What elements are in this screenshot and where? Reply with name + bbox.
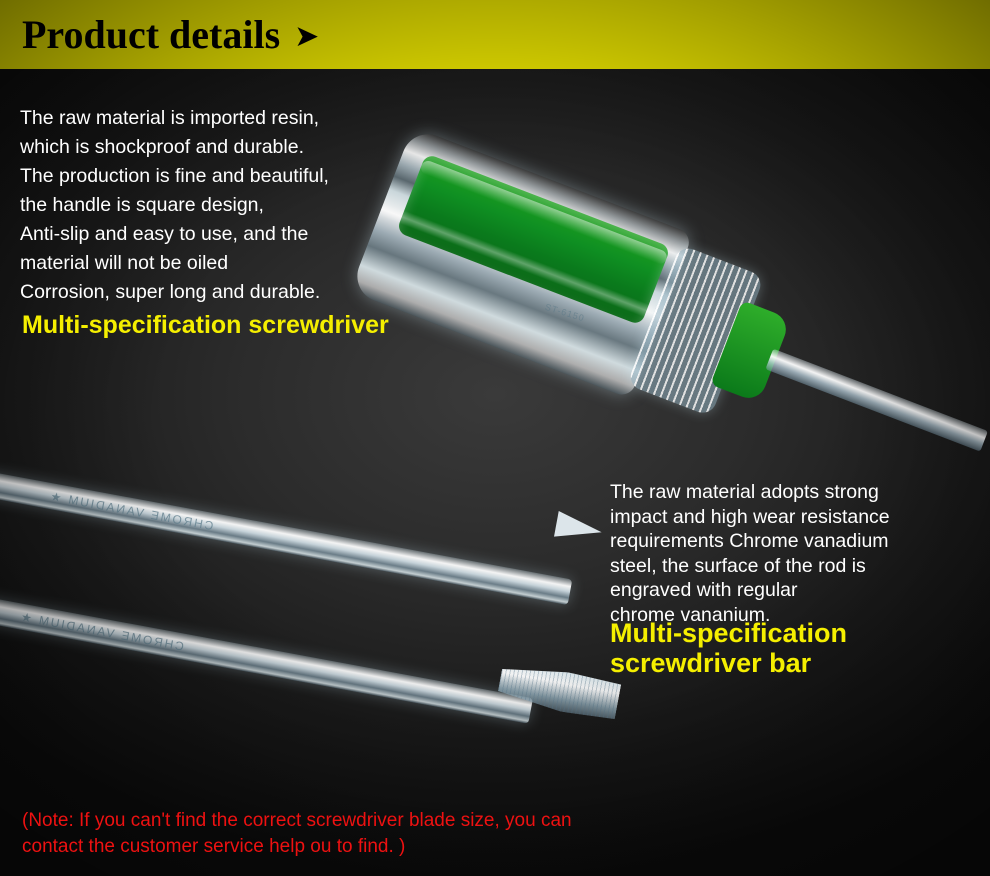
note-line-2: contact the customer service help ou to …	[22, 834, 902, 860]
product-details-page: Product details ➤ ST-6150 CHROME VANADIU…	[0, 0, 990, 876]
right-heading-line-1: Multi-specification	[610, 618, 970, 648]
right-triangle-icon: ➤	[294, 22, 319, 52]
note-block: (Note: If you can't find the correct scr…	[22, 808, 902, 860]
top-line-3: The production is fine and beautiful,	[20, 162, 440, 191]
top-line-6: material will not be oiled	[20, 249, 440, 278]
right-heading-line-2: screwdriver bar	[610, 648, 970, 678]
right-line-1: The raw material adopts strong	[610, 480, 965, 505]
top-line-1: The raw material is imported resin,	[20, 104, 440, 133]
right-line-2: impact and high wear resistance	[610, 505, 965, 530]
note-line-1: (Note: If you can't find the correct scr…	[22, 808, 902, 834]
top-line-2: which is shockproof and durable.	[20, 133, 440, 162]
screwdriver-bar-flat: CHROME VANADIUM ★	[0, 596, 533, 724]
header-banner: Product details ➤	[0, 0, 990, 69]
top-description-block: The raw material is imported resin, whic…	[20, 104, 440, 307]
top-line-5: Anti-slip and easy to use, and the	[20, 220, 440, 249]
bar-engraving-text-2: CHROME VANADIUM ★	[18, 609, 185, 653]
right-description-block: The raw material adopts strong impact an…	[610, 480, 965, 627]
right-heading: Multi-specification screwdriver bar	[610, 618, 970, 678]
top-line-7: Corrosion, super long and durable.	[20, 278, 440, 307]
bar-engraving-text-1: CHROME VANADIUM ★	[48, 489, 215, 533]
shaft	[765, 349, 988, 452]
right-line-5: engraved with regular	[610, 578, 965, 603]
right-line-4: steel, the surface of the rod is	[610, 554, 965, 579]
page-title: Product details	[22, 15, 280, 55]
right-line-3: requirements Chrome vanadium	[610, 529, 965, 554]
top-heading: Multi-specification screwdriver	[22, 310, 389, 340]
top-line-4: the handle is square design,	[20, 191, 440, 220]
